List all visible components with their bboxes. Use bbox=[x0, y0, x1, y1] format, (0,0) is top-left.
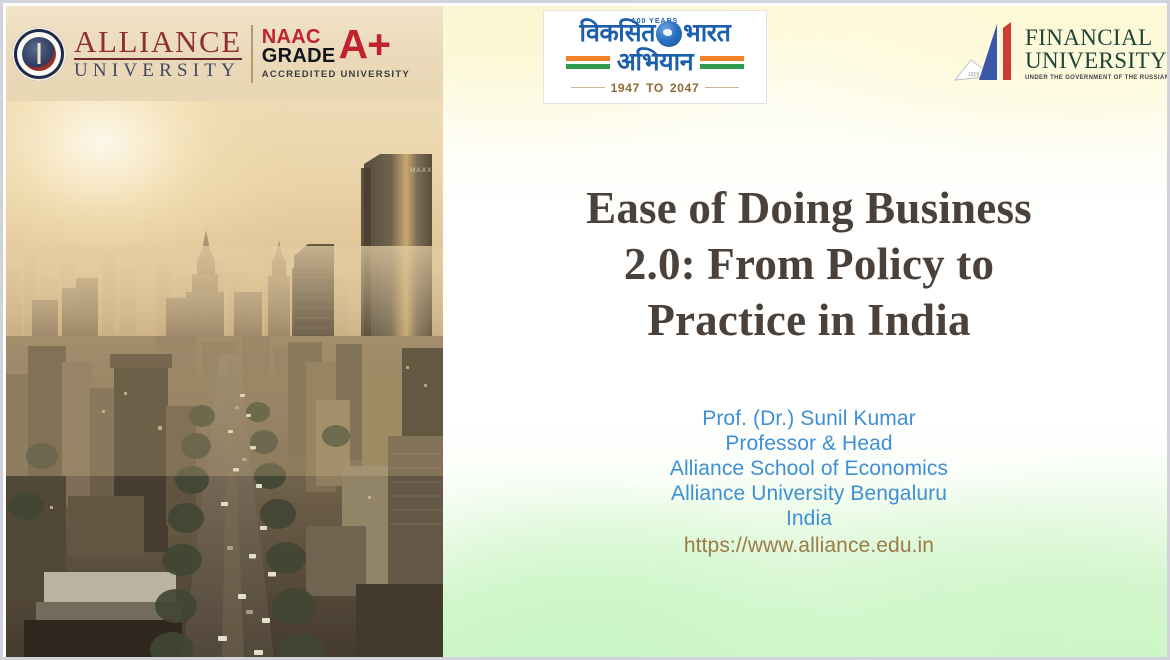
years-rule-right bbox=[705, 87, 739, 88]
financial-university-line1: FINANCIAL bbox=[1025, 26, 1170, 49]
naac-label: NAAC bbox=[262, 28, 336, 47]
slide-title: Ease of Doing Business 2.0: From Policy … bbox=[509, 181, 1109, 348]
vb-hindi-vikasit: विकसित bbox=[580, 21, 656, 46]
svg-text:1919: 1919 bbox=[968, 72, 979, 78]
tricolour-flag-icon-right bbox=[700, 56, 744, 69]
slide-title-line-3: Practice in India bbox=[509, 293, 1109, 349]
vb-hindi-bharat: भारत bbox=[683, 21, 730, 46]
slide-title-line-2: 2.0: From Policy to bbox=[509, 237, 1109, 293]
year-from: 1947 bbox=[611, 81, 641, 95]
presenter-country: India bbox=[509, 506, 1109, 531]
financial-university-logo: 1919 FINANCIAL UNIVERSITY UNDER THE GOVE… bbox=[953, 22, 1165, 96]
presenter-designation: Professor & Head bbox=[509, 431, 1109, 456]
presenter-name: Prof. (Dr.) Sunil Kumar bbox=[509, 406, 1109, 431]
university-website-link[interactable]: https://www.alliance.edu.in bbox=[509, 531, 1109, 557]
slide-title-line-1: Ease of Doing Business bbox=[509, 181, 1109, 237]
alliance-name-top: ALLIANCE bbox=[74, 26, 242, 58]
naac-accreditation-mark: NAAC GRADE A+ ACCREDITED UNIVERSITY bbox=[262, 28, 410, 80]
city-skyline-photo: MAXX bbox=[6, 6, 443, 660]
tricolour-flag-icon-left bbox=[566, 56, 610, 69]
slide-content-panel: 100 YEARS विकसित भारत अभियान 1947 TO 204… bbox=[443, 6, 1170, 660]
presenter-block: Prof. (Dr.) Sunil Kumar Professor & Head… bbox=[509, 406, 1109, 558]
year-separator: TO bbox=[646, 81, 664, 95]
presentation-slide: MAXX bbox=[0, 0, 1170, 660]
naac-grade-label: GRADE bbox=[262, 47, 336, 66]
alliance-seal-icon bbox=[12, 27, 66, 81]
vb-hindi-abhiyan: अभियान bbox=[617, 50, 693, 75]
vikasit-bharat-abhiyan-logo: 100 YEARS विकसित भारत अभियान 1947 TO 204… bbox=[543, 10, 767, 104]
naac-subtitle: ACCREDITED UNIVERSITY bbox=[262, 69, 410, 80]
alliance-university-logo: ALLIANCE UNIVERSITY NAAC GRADE A+ ACCRED… bbox=[6, 6, 443, 101]
financial-university-subtitle: UNDER THE GOVERNMENT OF THE RUSSIAN FEDE… bbox=[1025, 75, 1170, 81]
globe-icon bbox=[656, 21, 682, 47]
financial-university-line2: UNIVERSITY bbox=[1025, 49, 1170, 72]
presenter-school: Alliance School of Economics bbox=[509, 456, 1109, 481]
naac-grade-value: A+ bbox=[339, 28, 391, 62]
years-rule-left bbox=[571, 87, 605, 88]
year-until: 2047 bbox=[670, 81, 700, 95]
financial-university-sail-icon: 1919 bbox=[953, 22, 1021, 88]
logo-divider bbox=[251, 25, 253, 83]
presenter-university: Alliance University Bengaluru bbox=[509, 481, 1109, 506]
alliance-name-bottom: UNIVERSITY bbox=[74, 61, 242, 81]
